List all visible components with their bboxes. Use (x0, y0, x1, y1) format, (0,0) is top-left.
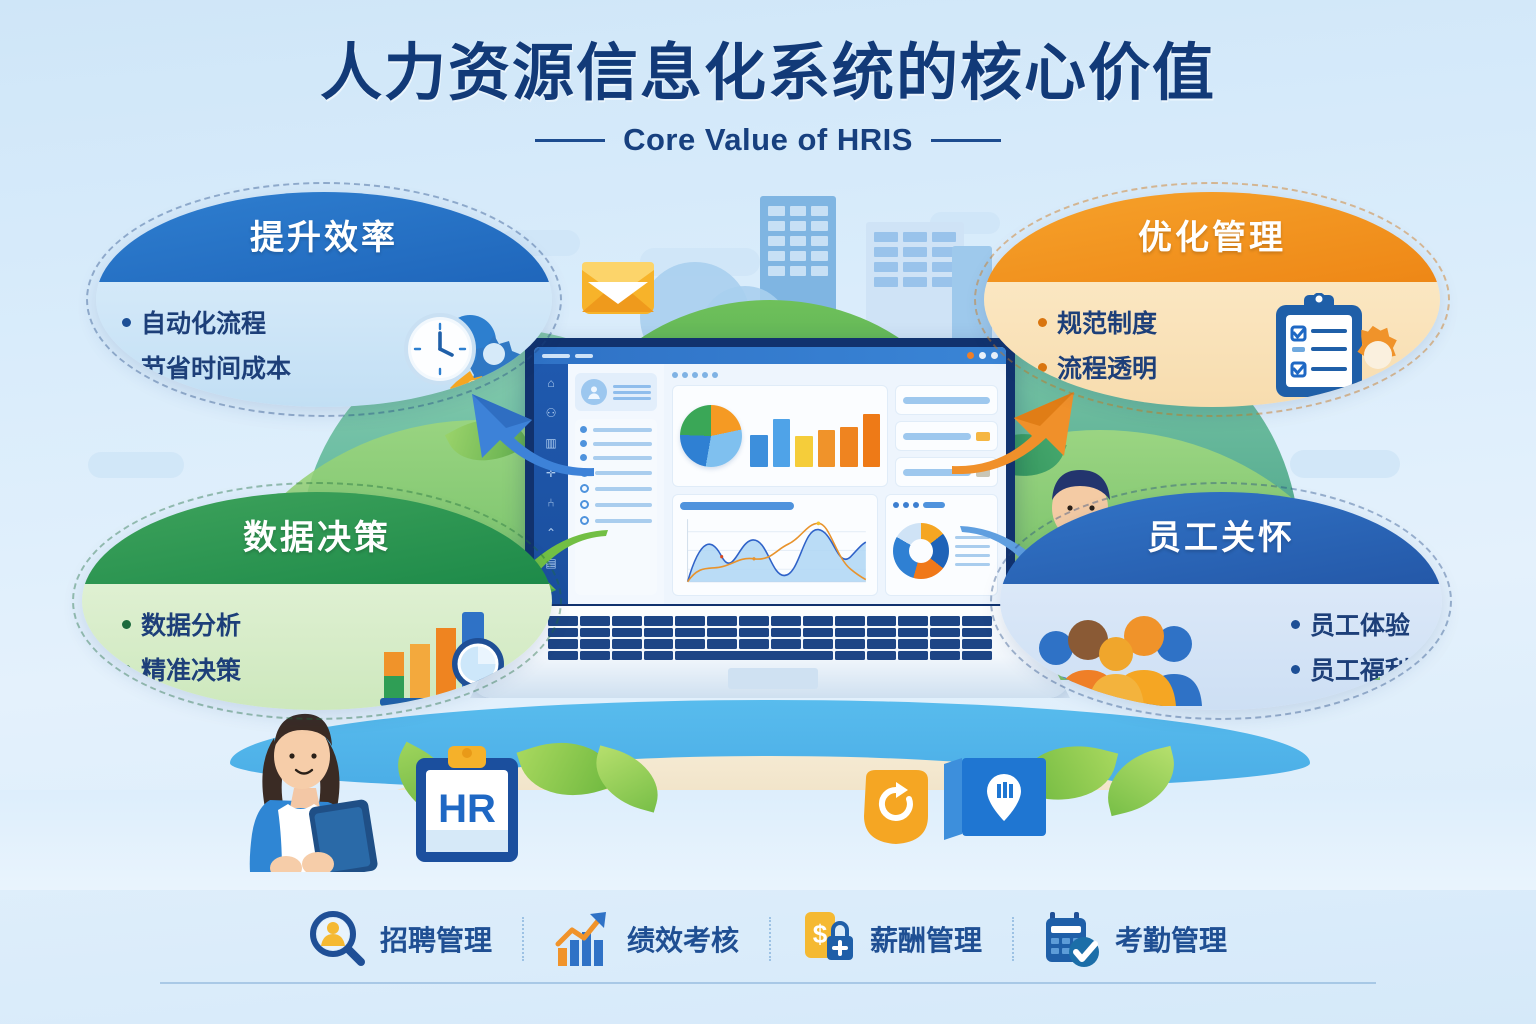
page-subtitle: Core Value of HRIS (623, 122, 913, 158)
leaf-icon (586, 745, 667, 812)
card-process[interactable]: 优化管理 规范制度 流程透明 (984, 192, 1440, 407)
cloud-icon (1290, 450, 1400, 478)
bullet-text: 节省时间成本 (141, 349, 291, 385)
bullet-item: 自动化流程 (122, 304, 291, 340)
bullet-text: 规范制度 (1057, 304, 1157, 340)
svg-text:$: $ (813, 919, 828, 949)
area-chart-panel (672, 494, 878, 596)
leaf-icon (382, 742, 472, 823)
footer-bar: 招聘管理 绩效考核 $ 薪酬管理 (0, 900, 1536, 978)
cloud-icon (640, 248, 760, 276)
cloud-icon (88, 452, 184, 478)
card-process-bullets: 规范制度 流程透明 (1038, 295, 1157, 394)
footer-label: 绩效考核 (627, 919, 739, 959)
card-care-bullets: 员工体验 员工福利 (1291, 597, 1410, 696)
dashboard-row-bottom (672, 494, 998, 596)
pie-bar-panel (672, 385, 888, 487)
title-rule-right (931, 139, 1001, 142)
title-block: 人力资源信息化系统的核心价值 Core Value of HRIS (0, 40, 1536, 158)
footer-divider-rule (160, 982, 1376, 984)
bullet-text: 员工体验 (1310, 606, 1410, 642)
card-efficiency-header: 提升效率 (96, 192, 552, 282)
subtitle-row: Core Value of HRIS (0, 122, 1536, 158)
title-rule-left (535, 139, 605, 142)
card-decision-bullets: 数据分析 精准决策 (122, 597, 241, 696)
person-search-icon (309, 910, 367, 968)
pie-chart (680, 405, 742, 467)
cloud-icon (930, 212, 1000, 234)
sand-band (380, 756, 1160, 816)
bullet-item: 员工体验 (1291, 606, 1410, 642)
card-process-header: 优化管理 (984, 192, 1440, 282)
profile-lines (613, 385, 651, 400)
chart-title-bar (680, 502, 794, 510)
location-pin-card-icon (940, 754, 1050, 844)
bullet-item: 员工福利 (1291, 651, 1410, 687)
card-efficiency-bullets: 自动化流程 节省时间成本 (122, 295, 291, 394)
donut-chart (893, 523, 949, 579)
bullet-item: 数据分析 (122, 606, 241, 642)
footer-item-payroll[interactable]: $ 薪酬管理 (771, 910, 1012, 968)
browser-title-bar (534, 347, 1006, 364)
ground-band (0, 790, 1536, 890)
window-dot-orange[interactable] (967, 352, 974, 359)
clipboard-gear-icon (1266, 293, 1416, 403)
nav-item[interactable] (580, 516, 652, 525)
envelope-icon (580, 256, 656, 318)
infographic-canvas: HR (0, 0, 1536, 1024)
footer-item-recruitment[interactable]: 招聘管理 (279, 910, 522, 968)
nav-item[interactable] (580, 500, 652, 509)
card-decision-body: 数据分析 精准决策 (82, 584, 552, 710)
footer-item-performance[interactable]: 绩效考核 (524, 910, 769, 968)
card-decision[interactable]: 数据决策 数据分析 精准决策 (82, 492, 552, 710)
bullet-item: 精准决策 (122, 651, 241, 687)
bullet-text: 流程透明 (1057, 349, 1157, 385)
clock-gear-icon (382, 297, 532, 405)
bullet-item: 规范制度 (1038, 304, 1157, 340)
card-efficiency[interactable]: 提升效率 自动化流程 节省时间成本 (96, 192, 552, 407)
bullet-text: 数据分析 (141, 606, 241, 642)
money-lock-icon: $ (801, 910, 857, 968)
leaf-icon (517, 726, 618, 812)
people-group-icon (1026, 600, 1206, 710)
bullet-item: 节省时间成本 (122, 349, 291, 385)
card-care[interactable]: 员工关怀 员工体验 员工福利 (1000, 492, 1442, 710)
hr-clipboard-icon: HR (412, 744, 522, 866)
bullet-item: 流程透明 (1038, 349, 1157, 385)
footer-label: 招聘管理 (380, 919, 492, 959)
bullet-text: 自动化流程 (141, 304, 266, 340)
bar-chart (750, 405, 880, 467)
nav-item[interactable] (580, 484, 652, 493)
bullet-text: 精准决策 (141, 651, 241, 687)
growth-chart-icon (554, 910, 614, 968)
calendar-check-icon (1044, 910, 1102, 968)
bar-chart-magnifier-icon (366, 598, 536, 710)
bullet-text: 员工福利 (1310, 651, 1410, 687)
browser-tab[interactable] (575, 354, 593, 358)
refresh-shield-icon (856, 764, 936, 848)
card-efficiency-body: 自动化流程 节省时间成本 (96, 282, 552, 407)
svg-text:HR: HR (438, 787, 496, 831)
leaf-icon (1018, 732, 1118, 813)
leaf-icon (1099, 746, 1184, 816)
laptop-trackpad[interactable] (728, 668, 818, 689)
footer-label: 薪酬管理 (870, 919, 982, 959)
donut-header (893, 502, 990, 508)
footer-item-attendance[interactable]: 考勤管理 (1014, 910, 1257, 968)
card-process-body: 规范制度 流程透明 (984, 282, 1440, 407)
chart-icon[interactable]: ⑃ (547, 496, 554, 510)
footer-label: 考勤管理 (1115, 919, 1227, 959)
area-chart (680, 515, 870, 588)
page-title: 人力资源信息化系统的核心价值 (0, 40, 1536, 108)
card-care-body: 员工体验 员工福利 (1000, 584, 1442, 710)
